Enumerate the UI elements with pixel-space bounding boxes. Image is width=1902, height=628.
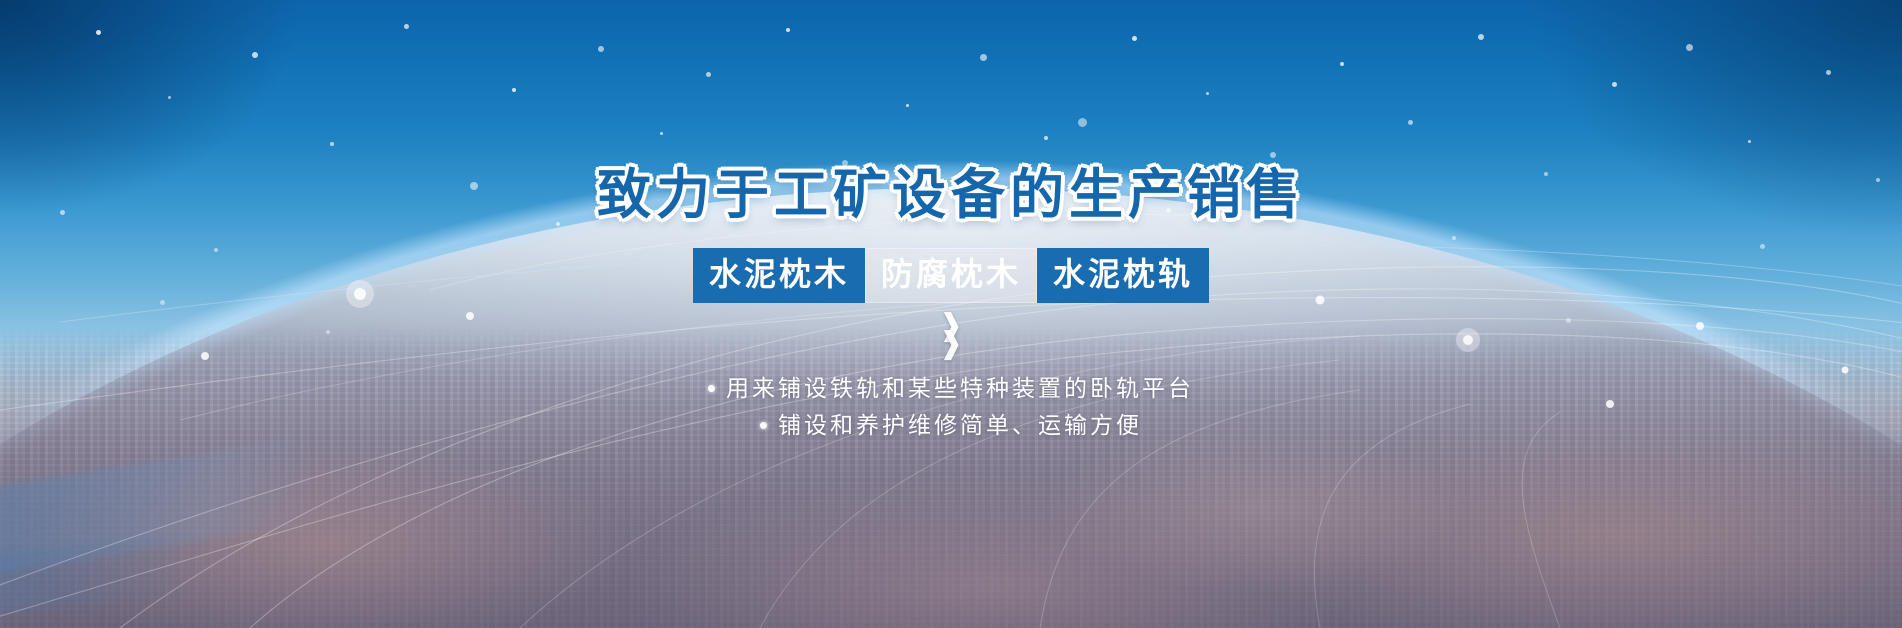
hero-banner: 致力于工矿设备的生产销售 水泥枕木 防腐枕木 水泥枕轨 ❱ ❱ 用来铺设铁轨和某… <box>0 0 1902 628</box>
feature-bullet-text: 用来铺设铁轨和某些特种装置的卧轨平台 <box>726 370 1194 407</box>
banner-headline: 致力于工矿设备的生产销售 <box>597 168 1305 222</box>
list-item: 用来铺设铁轨和某些特种装置的卧轨平台 <box>708 370 1194 407</box>
product-badge-group: 水泥枕木 防腐枕木 水泥枕轨 <box>693 248 1209 303</box>
chevron-double-down-icon: ❱ ❱ <box>938 317 963 354</box>
list-item: 铺设和养护维修简单、运输方便 <box>760 407 1142 444</box>
feature-bullet-list: 用来铺设铁轨和某些特种装置的卧轨平台 铺设和养护维修简单、运输方便 <box>708 370 1194 445</box>
product-badge-cement-rail[interactable]: 水泥枕轨 <box>1037 248 1209 303</box>
chevron-down-icon-bottom: ❱ <box>938 335 963 354</box>
feature-bullet-text: 铺设和养护维修简单、运输方便 <box>778 407 1142 444</box>
banner-content: 致力于工矿设备的生产销售 水泥枕木 防腐枕木 水泥枕轨 ❱ ❱ 用来铺设铁轨和某… <box>0 0 1902 628</box>
bullet-point-icon <box>708 385 715 392</box>
product-badge-anticorrosive-sleeper[interactable]: 防腐枕木 <box>865 248 1037 303</box>
product-badge-cement-sleeper[interactable]: 水泥枕木 <box>693 248 865 303</box>
bullet-point-icon <box>760 422 767 429</box>
